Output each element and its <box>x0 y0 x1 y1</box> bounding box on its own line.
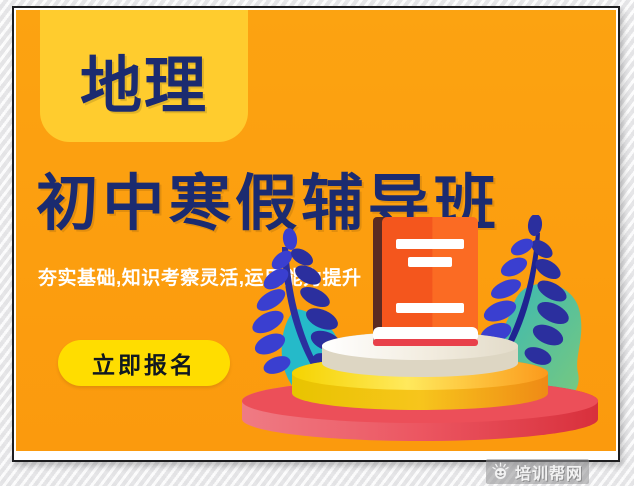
site-watermark-label: 培训帮网 <box>515 460 583 484</box>
image-frame: 地理 初中寒假辅导班 夯实基础,知识考察灵活,运用能力提升 立即报名 <box>0 0 634 486</box>
book-podium-illustration <box>230 215 616 451</box>
textbook-illustration <box>373 217 478 346</box>
subject-badge-label: 地理 <box>80 56 208 142</box>
sun-smiley-icon <box>491 462 510 481</box>
subject-badge: 地理 <box>40 10 248 142</box>
enroll-now-button[interactable]: 立即报名 <box>58 340 230 386</box>
course-promo-poster: 地理 初中寒假辅导班 夯实基础,知识考察灵活,运用能力提升 立即报名 <box>16 10 616 451</box>
enroll-now-button-label: 立即报名 <box>92 346 196 380</box>
site-watermark: 培训帮网 <box>486 459 589 484</box>
